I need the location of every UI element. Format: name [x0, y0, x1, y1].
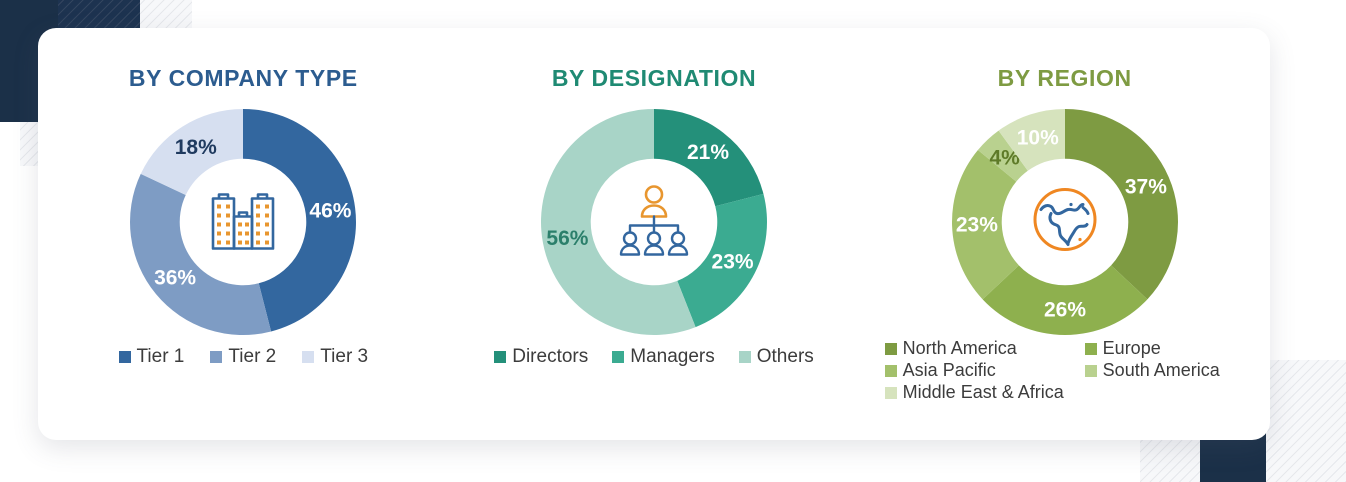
legend-swatch	[302, 351, 314, 363]
chart-card: BY COMPANY TYPE 46%36%18%	[38, 28, 1270, 440]
panel-company-type: BY COMPANY TYPE 46%36%18%	[38, 28, 449, 440]
legend-label: South America	[1103, 360, 1220, 381]
legend-designation: DirectorsManagersOthers	[449, 346, 860, 368]
legend-row: DirectorsManagersOthers	[482, 346, 826, 368]
infographic-root: BY COMPANY TYPE 46%36%18%	[0, 0, 1346, 482]
panel-title-designation: BY DESIGNATION	[552, 65, 756, 92]
segment-value-label: 23%	[712, 251, 754, 274]
legend-item-asia-pacific[interactable]: Asia Pacific	[885, 360, 1085, 381]
legend-swatch	[494, 351, 506, 363]
legend-label: Others	[757, 346, 814, 368]
panel-designation: BY DESIGNATION 21%23%56%	[449, 28, 860, 440]
legend-item-tier-3[interactable]: Tier 3	[302, 346, 368, 368]
legend-swatch	[612, 351, 624, 363]
donut-designation: 21%23%56%	[538, 106, 770, 338]
segment-value-label: 46%	[310, 200, 352, 223]
legend-swatch	[119, 351, 131, 363]
legend-company-type: Tier 1Tier 2Tier 3	[38, 346, 449, 368]
globe-icon	[1021, 176, 1109, 269]
segment-value-label: 23%	[956, 213, 998, 236]
legend-item-north-america[interactable]: North America	[885, 338, 1085, 359]
segment-value-label: 26%	[1044, 299, 1086, 322]
legend-region: North AmericaEuropeAsia PacificSouth Ame…	[859, 338, 1270, 403]
legend-swatch	[1085, 365, 1097, 377]
donut-company-type: 46%36%18%	[127, 106, 359, 338]
segment-value-label: 10%	[1016, 127, 1058, 150]
legend-swatch	[885, 387, 897, 399]
segment-value-label: 36%	[154, 267, 196, 290]
legend-swatch	[885, 365, 897, 377]
panel-title-company-type: BY COMPANY TYPE	[129, 65, 358, 92]
legend-label: North America	[903, 338, 1017, 359]
legend-label: Directors	[512, 346, 588, 368]
deco-bottom-right-hatch-light-a	[1266, 360, 1346, 482]
legend-item-tier-2[interactable]: Tier 2	[210, 346, 276, 368]
legend-item-tier-1[interactable]: Tier 1	[119, 346, 185, 368]
legend-label: Managers	[630, 346, 715, 368]
buildings-icon	[200, 177, 286, 268]
legend-item-europe[interactable]: Europe	[1085, 338, 1245, 359]
segment-value-label: 21%	[687, 141, 729, 164]
chart-panels: BY COMPANY TYPE 46%36%18%	[38, 28, 1270, 440]
segment-value-label: 18%	[175, 136, 217, 159]
panel-region: BY REGION 37%26%23%4%10%	[859, 28, 1270, 440]
legend-item-others[interactable]: Others	[739, 346, 814, 368]
donut-region: 37%26%23%4%10%	[949, 106, 1181, 338]
legend-item-directors[interactable]: Directors	[494, 346, 588, 368]
legend-label: Europe	[1103, 338, 1161, 359]
legend-swatch	[739, 351, 751, 363]
legend-row: Tier 1Tier 2Tier 3	[106, 346, 382, 368]
legend-label: Tier 1	[137, 346, 185, 368]
legend-label: Tier 2	[228, 346, 276, 368]
legend-label: Asia Pacific	[903, 360, 996, 381]
legend-label: Middle East & Africa	[903, 382, 1064, 403]
segment-value-label: 37%	[1125, 176, 1167, 199]
legend-swatch	[1085, 343, 1097, 355]
legend-item-managers[interactable]: Managers	[612, 346, 715, 368]
legend-item-middle-east-africa[interactable]: Middle East & Africa	[885, 382, 1245, 403]
legend-swatch	[885, 343, 897, 355]
legend-swatch	[210, 351, 222, 363]
legend-grid: North AmericaEuropeAsia PacificSouth Ame…	[885, 338, 1245, 403]
panel-title-region: BY REGION	[998, 65, 1132, 92]
deco-bottom-right-hatch-light-b	[1140, 438, 1200, 482]
legend-item-south-america[interactable]: South America	[1085, 360, 1245, 381]
legend-label: Tier 3	[320, 346, 368, 368]
org-hierarchy-icon	[608, 177, 700, 268]
segment-value-label: 56%	[546, 227, 588, 250]
